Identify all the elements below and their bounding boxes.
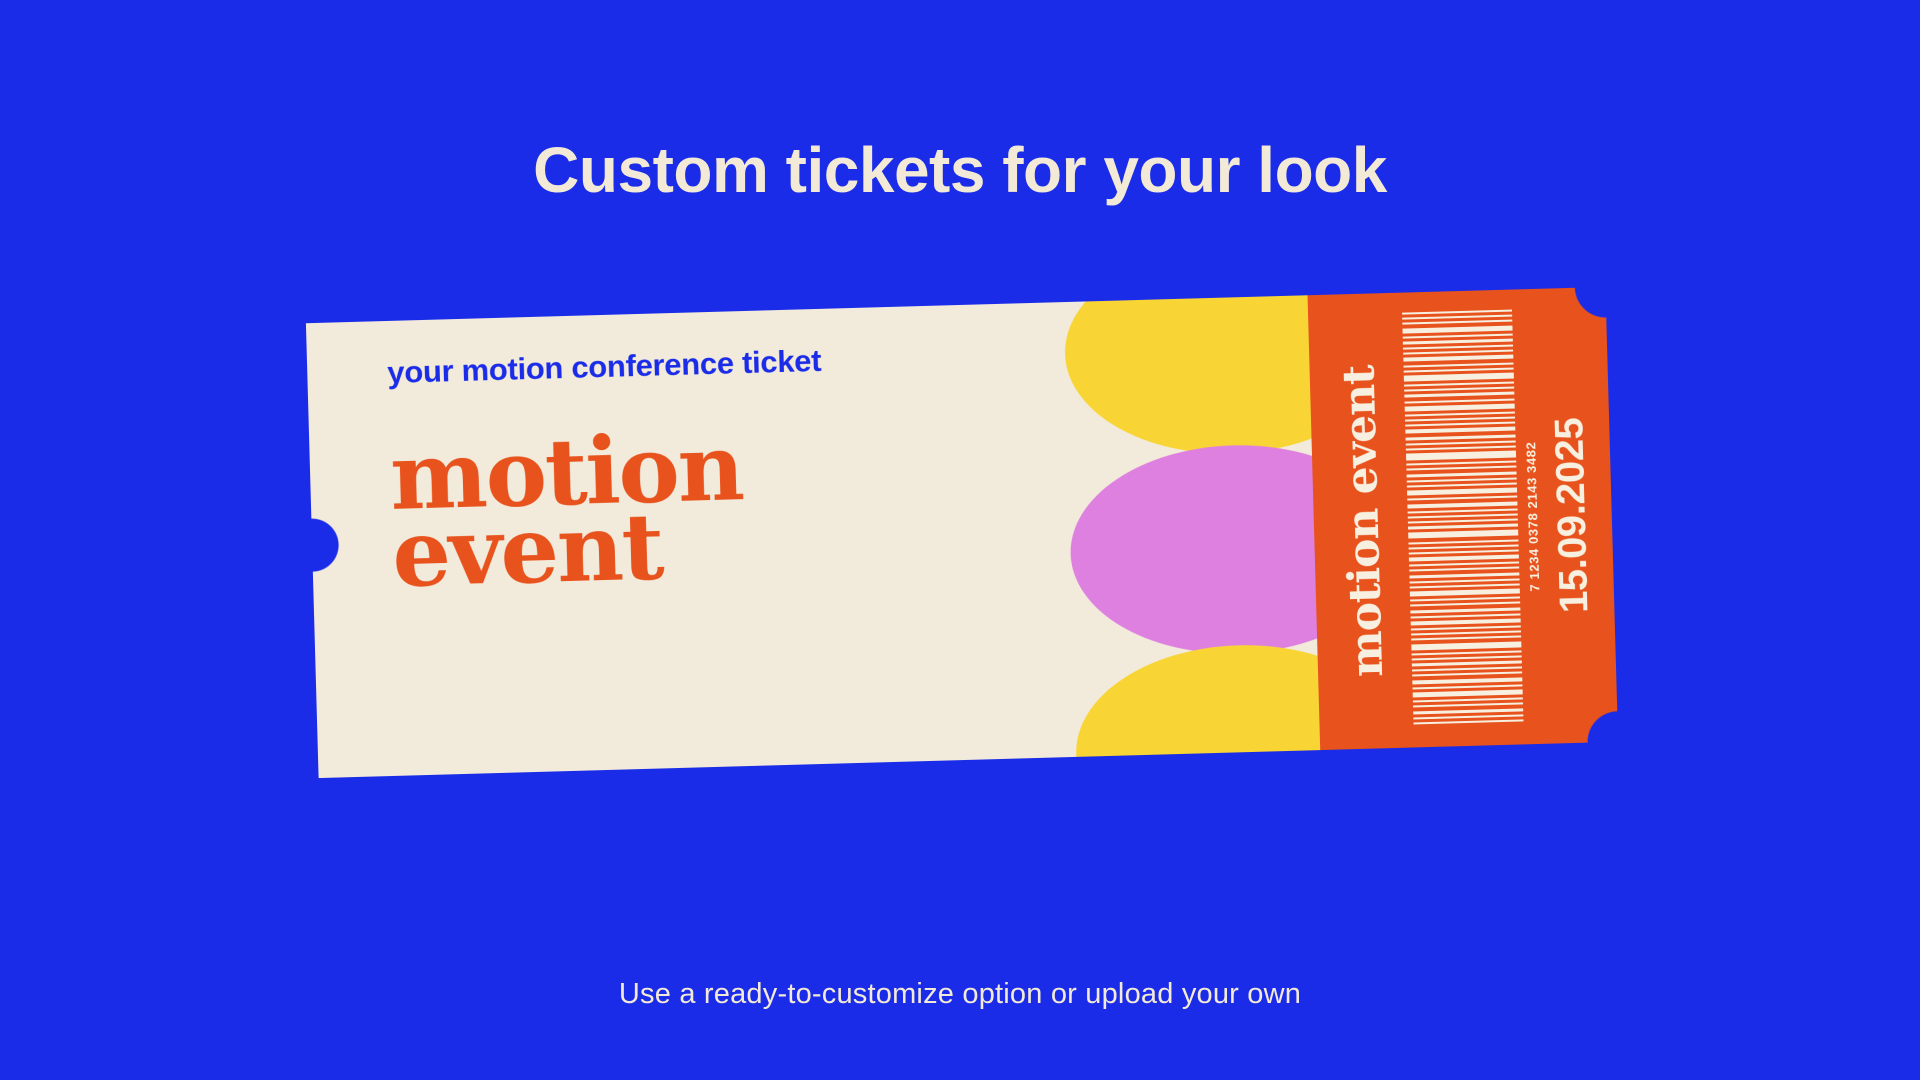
- ellipse-purple-middle-icon: [1068, 441, 1320, 658]
- ellipse-yellow-bottom-icon: [1073, 641, 1320, 778]
- stub-vertical-label-text: motion event: [1334, 365, 1394, 678]
- page-caption: Use a ready-to-customize option or uploa…: [0, 980, 1920, 1009]
- ticket-date-text: 15.09.2025: [1548, 417, 1598, 613]
- ticket-title: motion event: [389, 419, 1093, 593]
- ellipse-yellow-top-icon: [1062, 295, 1320, 458]
- ticket-text-block: your motion conference ticket motion eve…: [387, 335, 1093, 593]
- barcode-icon: [1402, 310, 1523, 725]
- ticket-date: 15.09.2025: [1535, 287, 1610, 744]
- stub-vertical-label: motion event: [1322, 293, 1407, 750]
- ticket-body: your motion conference ticket motion eve…: [306, 295, 1320, 778]
- ticket-tagline: your motion conference ticket: [387, 335, 1088, 391]
- ticket-preview[interactable]: your motion conference ticket motion eve…: [306, 287, 1618, 778]
- page-title: Custom tickets for your look: [0, 138, 1920, 202]
- ticket-stub: motion event 7 1234 0378 2143 3482 15.09…: [1308, 287, 1619, 750]
- ticket-card[interactable]: your motion conference ticket motion eve…: [306, 287, 1618, 778]
